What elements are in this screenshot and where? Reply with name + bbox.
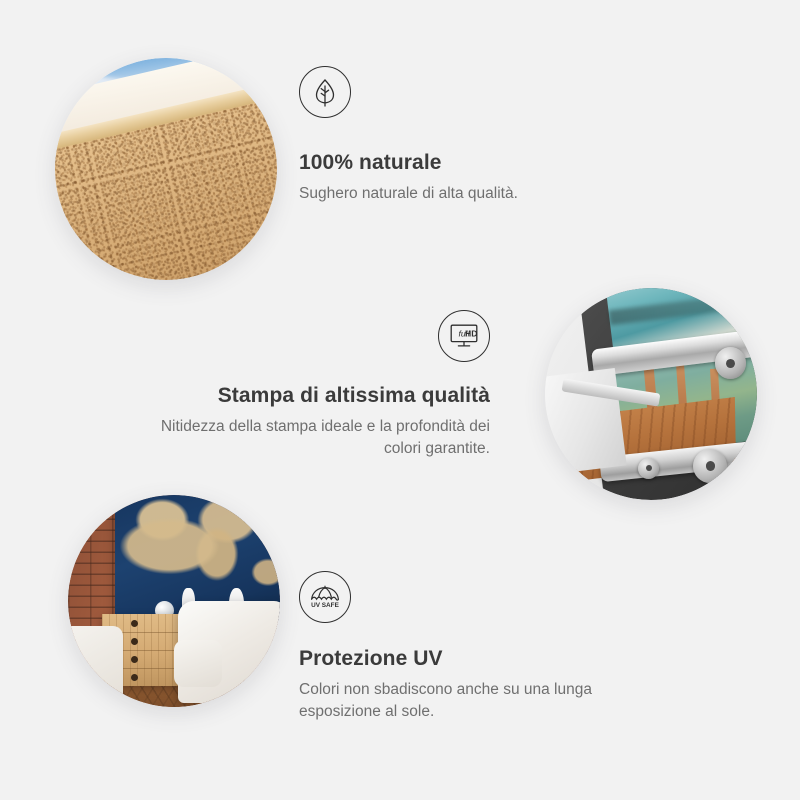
feature-description: Nitidezza della stampa ideale e la profo…	[160, 416, 490, 461]
feature-description: Colori non sbadiscono anche su una lunga…	[299, 679, 669, 724]
armchair-primary	[178, 601, 280, 703]
dresser-knob	[131, 674, 138, 681]
leaf-icon	[299, 66, 351, 118]
printer-image	[545, 288, 757, 500]
dresser-knob	[131, 638, 138, 645]
armchair-secondary	[68, 626, 123, 698]
feature-showcase: 100% naturale Sughero naturale di alta q…	[0, 0, 800, 800]
feature-uv-protection: UV SAFE Protezione UV Colori non sbadisc…	[299, 571, 669, 724]
uv-safe-label: UV SAFE	[311, 602, 339, 609]
feature-title: Protezione UV	[299, 647, 669, 671]
uv-safe-umbrella-icon: UV SAFE	[299, 571, 351, 623]
fullhd-monitor-icon: full HD	[438, 310, 490, 362]
svg-text:HD: HD	[465, 328, 477, 338]
dresser-knob	[131, 656, 138, 663]
feature-title: 100% naturale	[299, 151, 599, 175]
feature-description: Sughero naturale di alta qualità.	[299, 183, 599, 205]
interior-image	[68, 495, 280, 707]
dresser-knob	[131, 620, 138, 627]
feature-print-quality: full HD Stampa di altissima qualità Niti…	[160, 310, 490, 461]
feature-natural: 100% naturale Sughero naturale di alta q…	[299, 66, 599, 205]
feature-title: Stampa di altissima qualità	[160, 384, 490, 408]
cork-texture-image	[55, 58, 277, 280]
